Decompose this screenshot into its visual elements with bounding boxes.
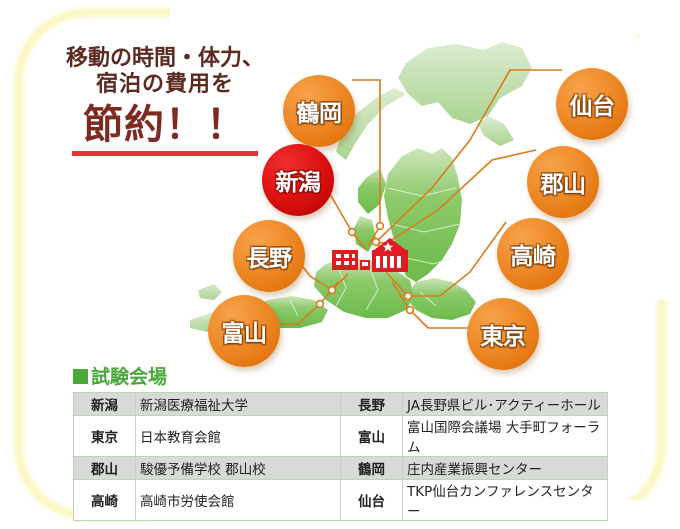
map-bubble-label: 郡山 — [541, 165, 586, 199]
map-bubble-label: 長野 — [247, 239, 292, 273]
map-bubble-label: 新潟 — [276, 163, 321, 197]
map-bubble-label: 鶴岡 — [297, 94, 342, 128]
venue-place: TKP仙台カンファレンスセンター — [403, 480, 608, 521]
map-bubble-tokyo[interactable]: 東京 — [467, 298, 539, 370]
map-bubble-label: 仙台 — [570, 87, 615, 121]
table-row: 高崎 高崎市労使会館 仙台 TKP仙台カンファレンスセンター — [74, 480, 608, 521]
venue-table: 新潟 新潟医療福祉大学 長野 JA長野県ビル･アクティーホール 東京 日本教育会… — [73, 392, 608, 521]
venue-pref: 郡山 — [74, 457, 136, 480]
venue-place: 高崎市労使会館 — [136, 480, 341, 521]
venue-pref: 新潟 — [74, 393, 136, 416]
map-bubble-label: 高崎 — [511, 237, 556, 271]
map-bubble-nagano[interactable]: 長野 — [233, 220, 305, 292]
venue-pref: 富山 — [341, 416, 403, 457]
venue-pref: 東京 — [74, 416, 136, 457]
venue-place: 駿優予備学校 郡山校 — [136, 457, 341, 480]
map-region-hokkaido — [336, 42, 532, 160]
table-row: 郡山 駿優予備学校 郡山校 鶴岡 庄内産業振興センター — [74, 457, 608, 480]
map-bubble-toyama[interactable]: 富山 — [208, 295, 280, 367]
venue-pref: 長野 — [341, 393, 403, 416]
map-bubble-takasaki[interactable]: 高崎 — [497, 218, 569, 290]
map-bubble-label: 富山 — [222, 314, 267, 348]
venue-place: 富山国際会議場 大手町フォーラム — [403, 416, 608, 457]
green-square-icon — [73, 369, 88, 384]
map-bubble-koriyama[interactable]: 郡山 — [527, 146, 599, 218]
table-row: 東京 日本教育会館 富山 富山国際会議場 大手町フォーラム — [74, 416, 608, 457]
venue-pref: 仙台 — [341, 480, 403, 521]
venue-place: JA長野県ビル･アクティーホール — [403, 393, 608, 416]
venue-section-heading: 試験会場 — [73, 362, 167, 389]
venue-place: 新潟医療福祉大学 — [136, 393, 341, 416]
venue-heading-label: 試験会場 — [91, 366, 167, 388]
table-row: 新潟 新潟医療福祉大学 長野 JA長野県ビル･アクティーホール — [74, 393, 608, 416]
venue-pref: 高崎 — [74, 480, 136, 521]
map-bubble-niigata[interactable]: 新潟 — [262, 144, 334, 216]
venue-pref: 鶴岡 — [341, 457, 403, 480]
venue-place: 庄内産業振興センター — [403, 457, 608, 480]
map-bubble-label: 東京 — [481, 317, 526, 351]
map-bubble-sendai[interactable]: 仙台 — [556, 68, 628, 140]
venue-place: 日本教育会館 — [136, 416, 341, 457]
poster-root: 移動の時間・体力、 宿泊の費用を 節約！！ — [0, 0, 680, 529]
map-bubble-tsuruoka[interactable]: 鶴岡 — [283, 75, 355, 147]
japan-map: 鶴岡 仙台 新潟 郡山 長野 高崎 富山 東京 — [170, 28, 670, 358]
